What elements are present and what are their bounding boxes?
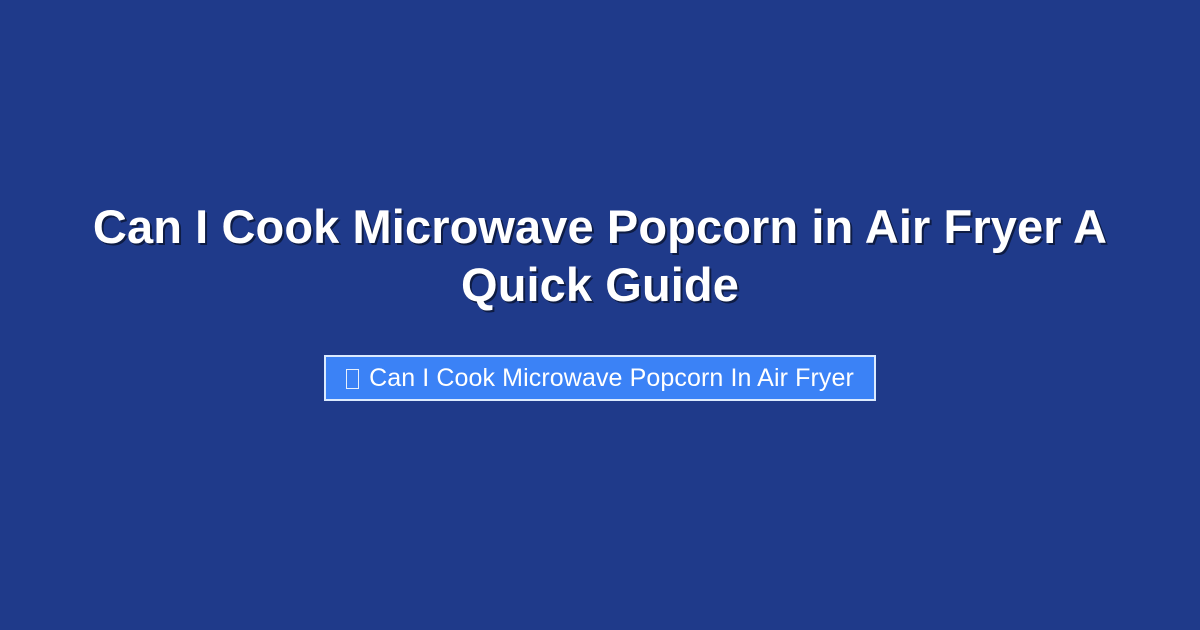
topic-badge-label: Can I Cook Microwave Popcorn In Air Frye… [369,366,854,391]
headline-block: Can I Cook Microwave Popcorn in Air Frye… [0,198,1200,314]
og-share-card: Can I Cook Microwave Popcorn in Air Frye… [0,0,1200,630]
missing-glyph-box-icon [346,369,359,389]
badge-row: Can I Cook Microwave Popcorn In Air Frye… [0,355,1200,401]
page-title: Can I Cook Microwave Popcorn in Air Frye… [56,198,1144,314]
topic-badge-button[interactable]: Can I Cook Microwave Popcorn In Air Frye… [324,355,876,401]
